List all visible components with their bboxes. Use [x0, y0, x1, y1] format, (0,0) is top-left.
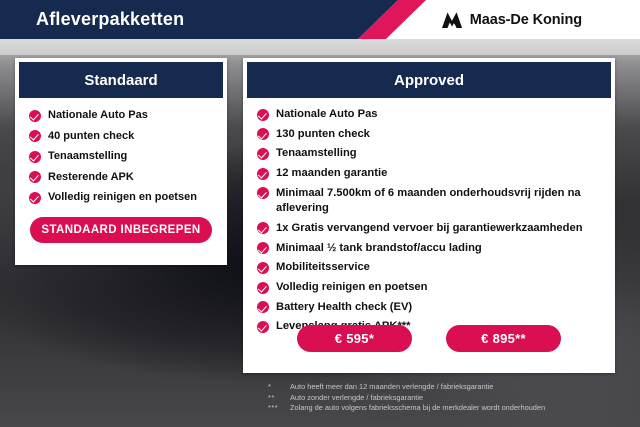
- check-circle-icon: [257, 262, 269, 274]
- check-circle-icon: [29, 110, 41, 122]
- list-item: Tenaamstelling: [257, 146, 615, 162]
- list-item: Minimaal ½ tank brandstof/accu lading: [257, 241, 615, 257]
- approved-card-heading: Approved: [247, 62, 611, 98]
- list-item: Minimaal 7.500km of 6 maanden onderhouds…: [257, 186, 615, 217]
- feature-label: 130 punten check: [276, 127, 370, 143]
- check-circle-icon: [29, 192, 41, 204]
- list-item: Nationale Auto Pas: [29, 108, 227, 123]
- feature-label: Volledig reinigen en poetsen: [48, 190, 197, 205]
- standaard-card-heading: Standaard: [19, 62, 223, 98]
- standaard-inbegrepen-button[interactable]: STANDAARD INBEGREPEN: [30, 217, 212, 243]
- feature-label: Volledig reinigen en poetsen: [276, 280, 427, 296]
- feature-label: Minimaal ½ tank brandstof/accu lading: [276, 241, 482, 257]
- list-item: Battery Health check (EV): [257, 300, 615, 316]
- check-circle-icon: [257, 128, 269, 140]
- check-circle-icon: [29, 151, 41, 163]
- feature-label: Nationale Auto Pas: [276, 107, 378, 123]
- standaard-package-card: Standaard Nationale Auto Pas 40 punten c…: [15, 58, 227, 265]
- feature-label: 1x Gratis vervangend vervoer bij garanti…: [276, 221, 583, 237]
- page-header: Afleverpakketten Maas-De Koning: [0, 0, 640, 39]
- feature-label: Battery Health check (EV): [276, 300, 412, 316]
- brand-name: Maas-De Koning: [470, 12, 582, 28]
- list-item: 12 maanden garantie: [257, 166, 615, 182]
- footnote-marker: *: [268, 382, 290, 393]
- footnote-marker: ***: [268, 403, 290, 414]
- check-circle-icon: [257, 222, 269, 234]
- approved-package-card: Approved Nationale Auto Pas 130 punten c…: [243, 58, 615, 373]
- feature-label: Resterende APK: [48, 170, 134, 185]
- page-title: Afleverpakketten: [36, 0, 184, 39]
- approved-feature-list: Nationale Auto Pas 130 punten check Tena…: [243, 98, 615, 335]
- footnotes: * Auto heeft meer dan 12 maanden verleng…: [268, 382, 628, 414]
- list-item: 130 punten check: [257, 127, 615, 143]
- maas-de-koning-m-mark-icon: [441, 11, 463, 29]
- footnote-text: Auto zonder verlengde / fabrieksgarantie: [290, 393, 423, 404]
- feature-label: 12 maanden garantie: [276, 166, 387, 182]
- price-button-595[interactable]: € 595*: [297, 325, 412, 352]
- list-item: Volledig reinigen en poetsen: [257, 280, 615, 296]
- list-item: Nationale Auto Pas: [257, 107, 615, 123]
- footnote-text: Auto heeft meer dan 12 maanden verlengde…: [290, 382, 493, 393]
- feature-label: Minimaal 7.500km of 6 maanden onderhouds…: [276, 186, 594, 217]
- check-circle-icon: [257, 301, 269, 313]
- background-highlight-band: [0, 39, 640, 55]
- check-circle-icon: [29, 171, 41, 183]
- feature-label: Nationale Auto Pas: [48, 108, 148, 123]
- check-circle-icon: [257, 109, 269, 121]
- list-item: Tenaamstelling: [29, 149, 227, 164]
- price-button-895[interactable]: € 895**: [446, 325, 561, 352]
- list-item: 1x Gratis vervangend vervoer bij garanti…: [257, 221, 615, 237]
- feature-label: Mobiliteitsservice: [276, 260, 370, 276]
- check-circle-icon: [257, 187, 269, 199]
- list-item: Resterende APK: [29, 170, 227, 185]
- check-circle-icon: [257, 242, 269, 254]
- footnote-text: Zolang de auto volgens fabrieksschema bi…: [290, 403, 545, 414]
- feature-label: 40 punten check: [48, 129, 134, 144]
- check-circle-icon: [257, 148, 269, 160]
- footnote-single-asterisk: * Auto heeft meer dan 12 maanden verleng…: [268, 382, 628, 393]
- check-circle-icon: [257, 168, 269, 180]
- price-button-row: € 595* € 895**: [243, 325, 615, 352]
- list-item: 40 punten check: [29, 129, 227, 144]
- check-circle-icon: [29, 130, 41, 142]
- standaard-feature-list: Nationale Auto Pas 40 punten check Tenaa…: [15, 98, 227, 205]
- list-item: Mobiliteitsservice: [257, 260, 615, 276]
- footnote-marker: **: [268, 393, 290, 404]
- brand-logo: Maas-De Koning: [441, 0, 582, 39]
- footnote-double-asterisk: ** Auto zonder verlengde / fabrieksgaran…: [268, 393, 628, 404]
- feature-label: Tenaamstelling: [48, 149, 127, 164]
- feature-label: Tenaamstelling: [276, 146, 357, 162]
- footnote-triple-asterisk: *** Zolang de auto volgens fabrieksschem…: [268, 403, 628, 414]
- check-circle-icon: [257, 282, 269, 294]
- list-item: Volledig reinigen en poetsen: [29, 190, 227, 205]
